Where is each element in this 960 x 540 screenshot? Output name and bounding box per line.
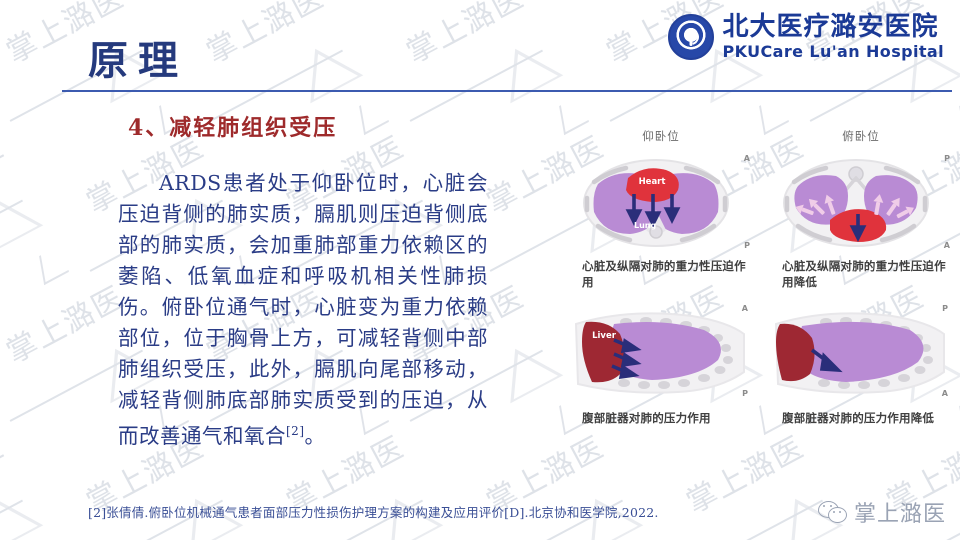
figure-image-sagittal-supine: Liver A P xyxy=(568,300,754,404)
hospital-name-en: PKUCare Lu'an Hospital xyxy=(722,44,944,60)
figure-image-axial-prone: P A xyxy=(768,148,954,252)
figure-caption: 腹部脏器对肺的压力作用降低 xyxy=(768,410,954,426)
figure-grid: 仰卧位 xyxy=(568,128,960,426)
figure-caption: 心脏及纵隔对肺的重力性压迫作用降低 xyxy=(768,258,954,290)
hospital-emblem-icon xyxy=(668,14,714,60)
slide-header: 原理 北大医疗潞安医院 PKUCare Lu'an Hospital xyxy=(0,0,960,100)
hospital-brand: 北大医疗潞安医院 PKUCare Lu'an Hospital xyxy=(668,14,944,60)
figure-axial-supine: 仰卧位 xyxy=(568,128,754,290)
figure-image-axial-supine: Heart Lung A P xyxy=(568,148,754,252)
organ-label-liver: Liver xyxy=(592,331,617,341)
figure-sagittal-supine: Liver A P 腹部脏器对肺的压力作用 xyxy=(568,300,754,426)
orientation-label-bottom: P xyxy=(744,241,750,250)
orientation-label-top: A xyxy=(742,304,748,313)
orientation-label-top: A xyxy=(744,154,750,163)
figure-row-axial: 仰卧位 xyxy=(568,128,960,290)
orientation-label-top: P xyxy=(942,304,948,313)
orientation-label-bottom: A xyxy=(944,241,950,250)
figure-sagittal-prone: P A 腹部脏器对肺的压力作用降低 xyxy=(768,300,954,426)
axial-supine-svg: Heart Lung xyxy=(568,148,754,252)
page-title: 原理 xyxy=(88,28,188,86)
orientation-label-bottom: A xyxy=(942,389,948,398)
wechat-badge: 掌上潞医 xyxy=(818,496,946,528)
citation-text: [2]张倩倩.俯卧位机械通气患者面部压力性损伤护理方案的构建及应用评价[D].北… xyxy=(88,502,828,521)
sagittal-supine-svg: Liver xyxy=(568,300,754,404)
figure-position-label: 俯卧位 xyxy=(768,128,954,144)
figure-image-sagittal-prone: P A xyxy=(768,300,954,404)
body-paragraph-text: ARDS患者处于仰卧位时，心脏会压迫背侧的肺实质，膈肌则压迫背侧底部的肺实质，会… xyxy=(118,171,488,448)
hospital-brand-text: 北大医疗潞安医院 PKUCare Lu'an Hospital xyxy=(722,14,944,60)
figure-caption: 心脏及纵隔对肺的重力性压迫作用 xyxy=(568,258,754,290)
figure-row-sagittal: Liver A P 腹部脏器对肺的压力作用 xyxy=(568,300,960,426)
slide-footer: [2]张倩倩.俯卧位机械通气患者面部压力性损伤护理方案的构建及应用评价[D].北… xyxy=(0,494,960,540)
citation-marker: [2] xyxy=(286,424,305,438)
organ-label-lung: Lung xyxy=(634,221,656,230)
orientation-label-top: P xyxy=(944,154,950,163)
hospital-name-cn: 北大医疗潞安医院 xyxy=(722,14,944,40)
section-heading: 4、减轻肺组织受压 xyxy=(128,110,560,142)
orientation-label-bottom: P xyxy=(742,389,748,398)
body-paragraph: ARDS患者处于仰卧位时，心脏会压迫背侧的肺实质，膈肌则压迫背侧底部的肺实质，会… xyxy=(118,168,488,452)
text-column: 4、减轻肺组织受压 ARDS患者处于仰卧位时，心脏会压迫背侧的肺实质，膈肌则压迫… xyxy=(0,110,560,452)
figure-axial-prone: 俯卧位 xyxy=(768,128,954,290)
organ-label-heart: Heart xyxy=(639,177,666,187)
sagittal-prone-svg xyxy=(768,300,954,404)
axial-prone-svg xyxy=(768,148,954,252)
wechat-icon xyxy=(818,500,848,524)
figure-position-label: 仰卧位 xyxy=(568,128,754,144)
title-divider xyxy=(62,90,952,92)
body-end-punct: 。 xyxy=(305,424,326,448)
wechat-label: 掌上潞医 xyxy=(854,496,946,528)
figure-caption: 腹部脏器对肺的压力作用 xyxy=(568,410,754,426)
